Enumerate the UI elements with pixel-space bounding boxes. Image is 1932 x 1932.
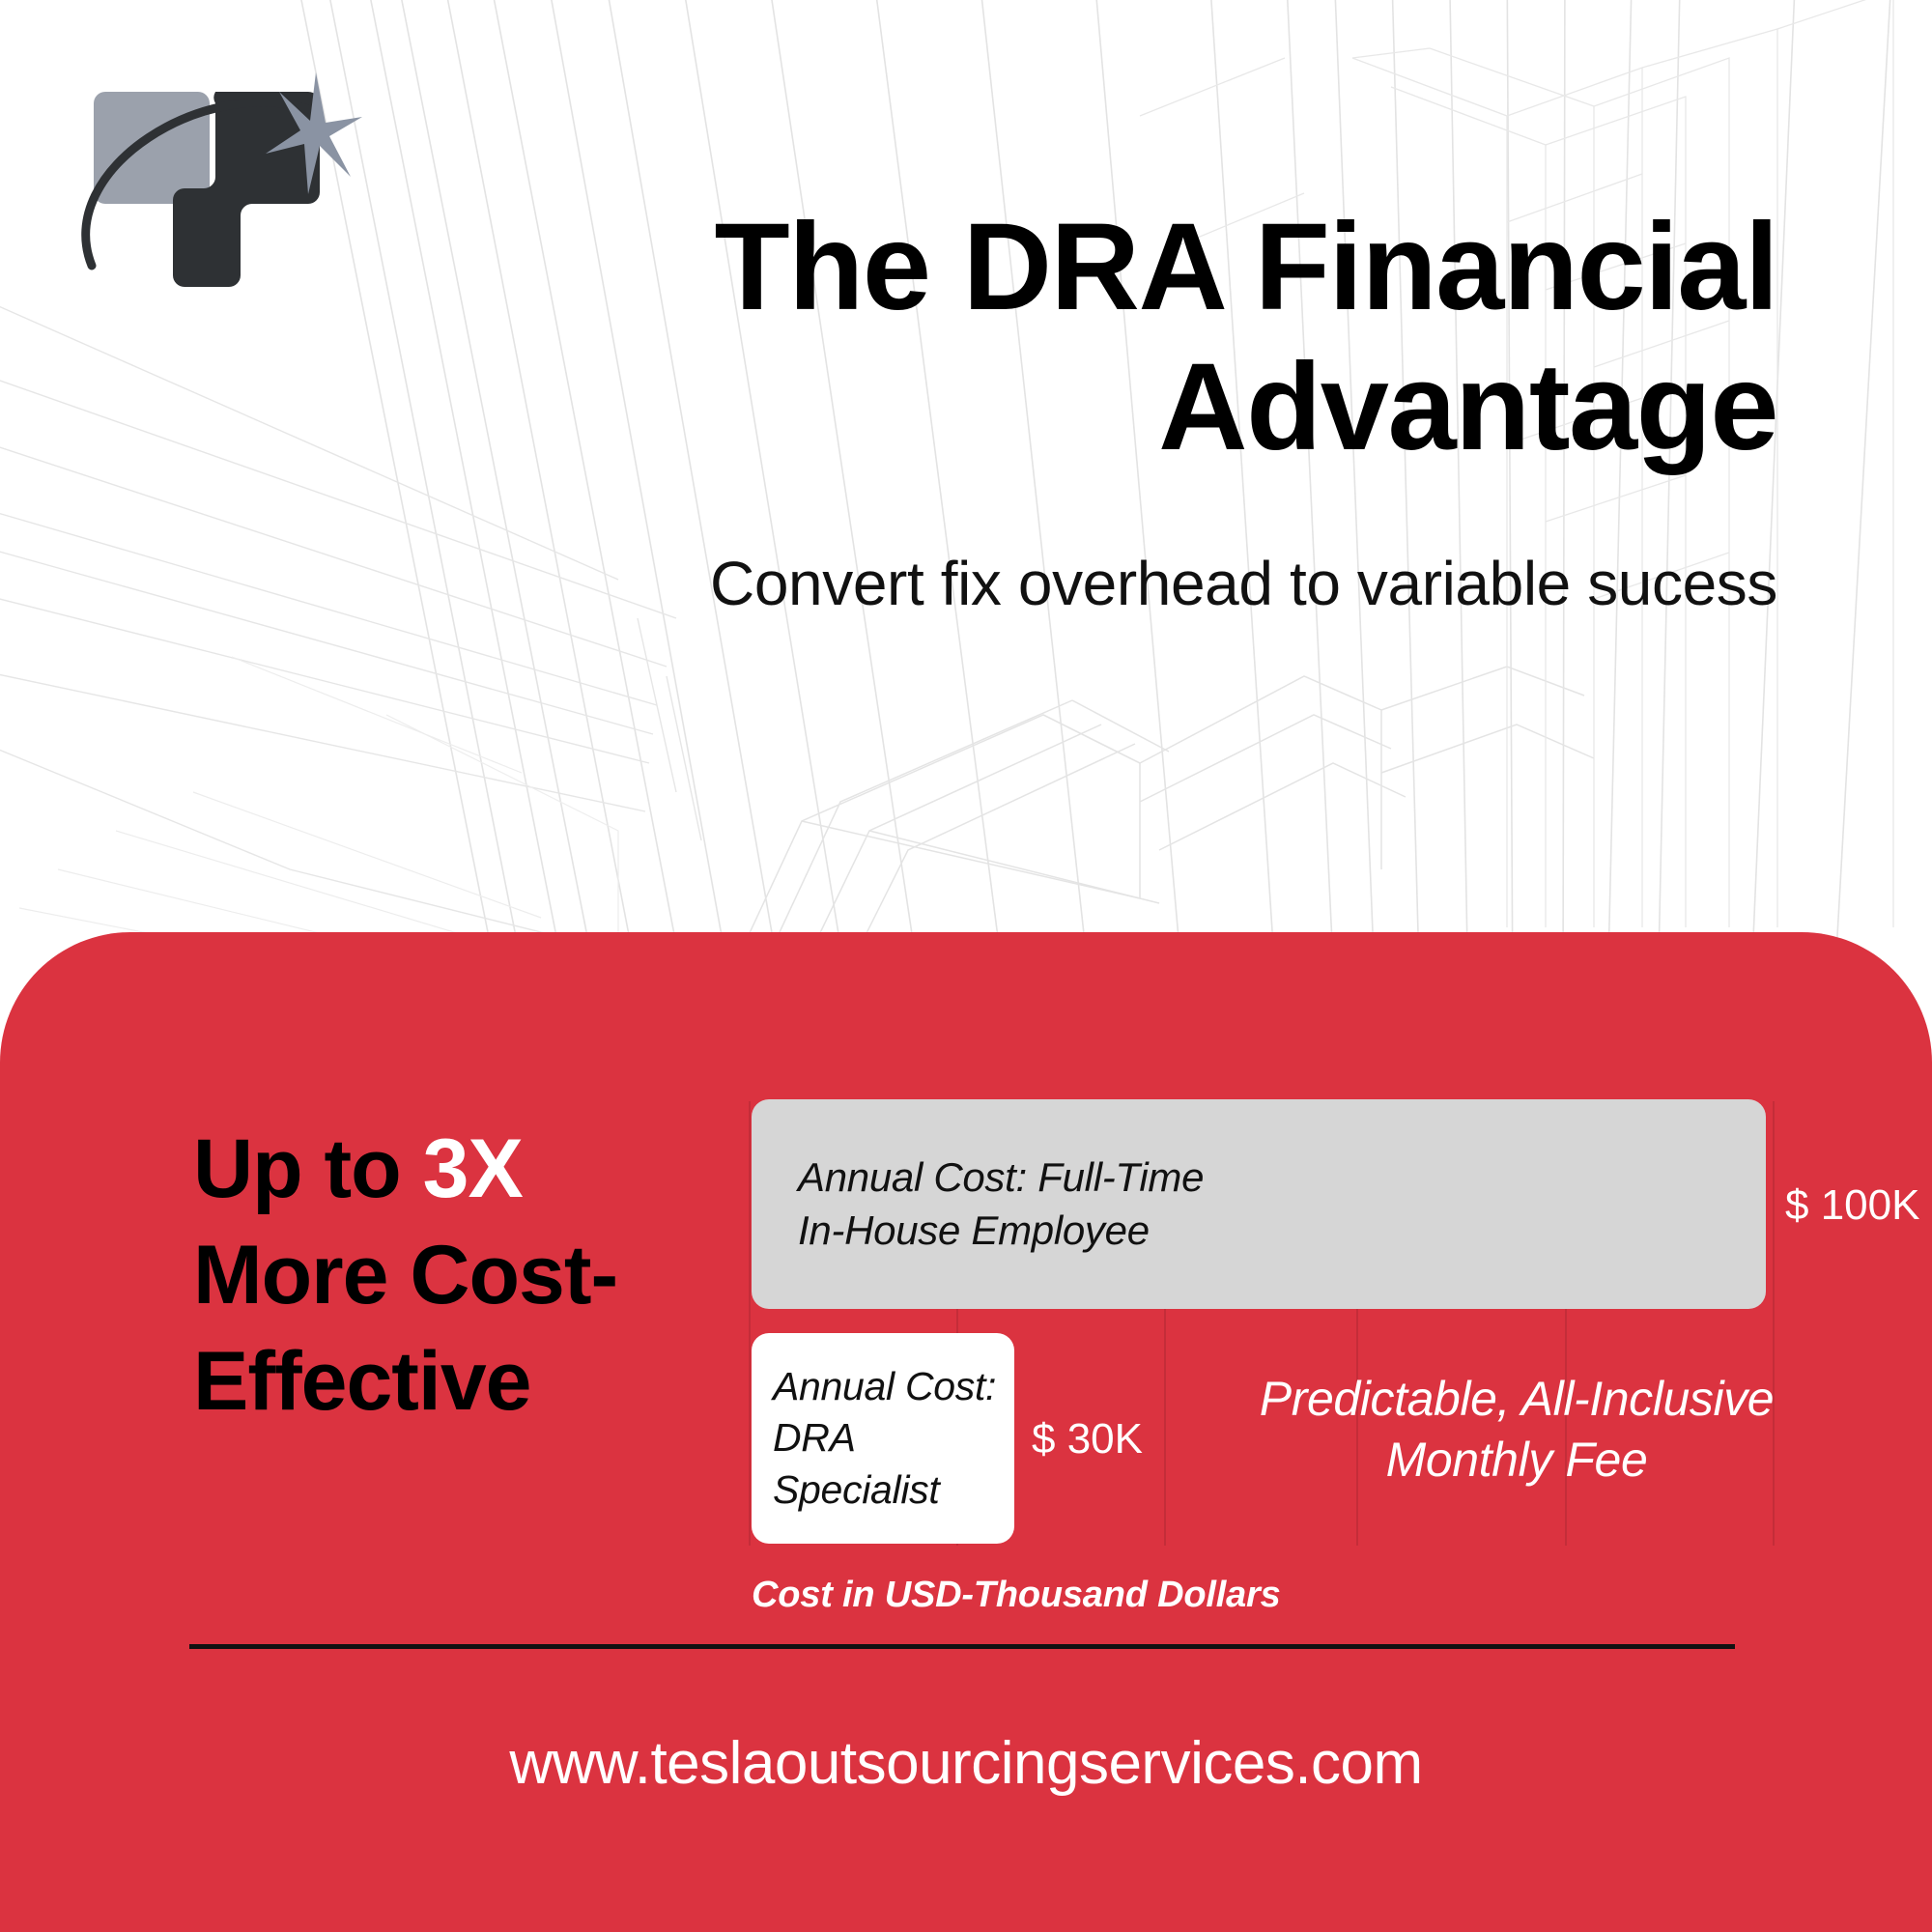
statement-prefix: Up to — [193, 1122, 423, 1215]
footer-divider — [189, 1644, 1735, 1649]
chart-annotation: Predictable, All-Inclusive Monthly Fee — [1207, 1369, 1826, 1490]
logo-gray-square — [94, 92, 210, 204]
bar-in-house-employee: Annual Cost: Full-Time In-House Employee — [752, 1099, 1766, 1309]
page-title: The DRA Financial Advantage — [464, 198, 1777, 477]
bar-value-in-house-employee: $ 100K — [1785, 1181, 1919, 1230]
bar-value-dra-specialist: $ 30K — [1032, 1415, 1143, 1463]
statement-suffix: More Cost-Effective — [193, 1229, 617, 1428]
page-subtitle: Convert fix overhead to variable sucess — [464, 545, 1777, 622]
chart-axis-caption: Cost in USD-Thousand Dollars — [752, 1575, 1281, 1616]
red-content-panel: Up to 3X More Cost-Effective Annual Cost… — [0, 932, 1932, 1932]
bar-label-in-house-employee: Annual Cost: Full-Time In-House Employee — [798, 1151, 1204, 1257]
poster-canvas: The DRA Financial Advantage Convert fix … — [0, 0, 1932, 1932]
statement-multiplier: 3X — [423, 1122, 523, 1215]
headline-block: The DRA Financial Advantage Convert fix … — [464, 198, 1777, 622]
cost-effective-statement: Up to 3X More Cost-Effective — [193, 1116, 734, 1435]
chart-gridline — [749, 1101, 751, 1546]
company-logo — [72, 53, 362, 295]
bar-dra-specialist: Annual Cost: DRA Specialist — [752, 1333, 1014, 1544]
website-url[interactable]: www.teslaoutsourcingservices.com — [0, 1729, 1932, 1798]
bar-label-dra-specialist: Annual Cost: DRA Specialist — [773, 1361, 1014, 1516]
